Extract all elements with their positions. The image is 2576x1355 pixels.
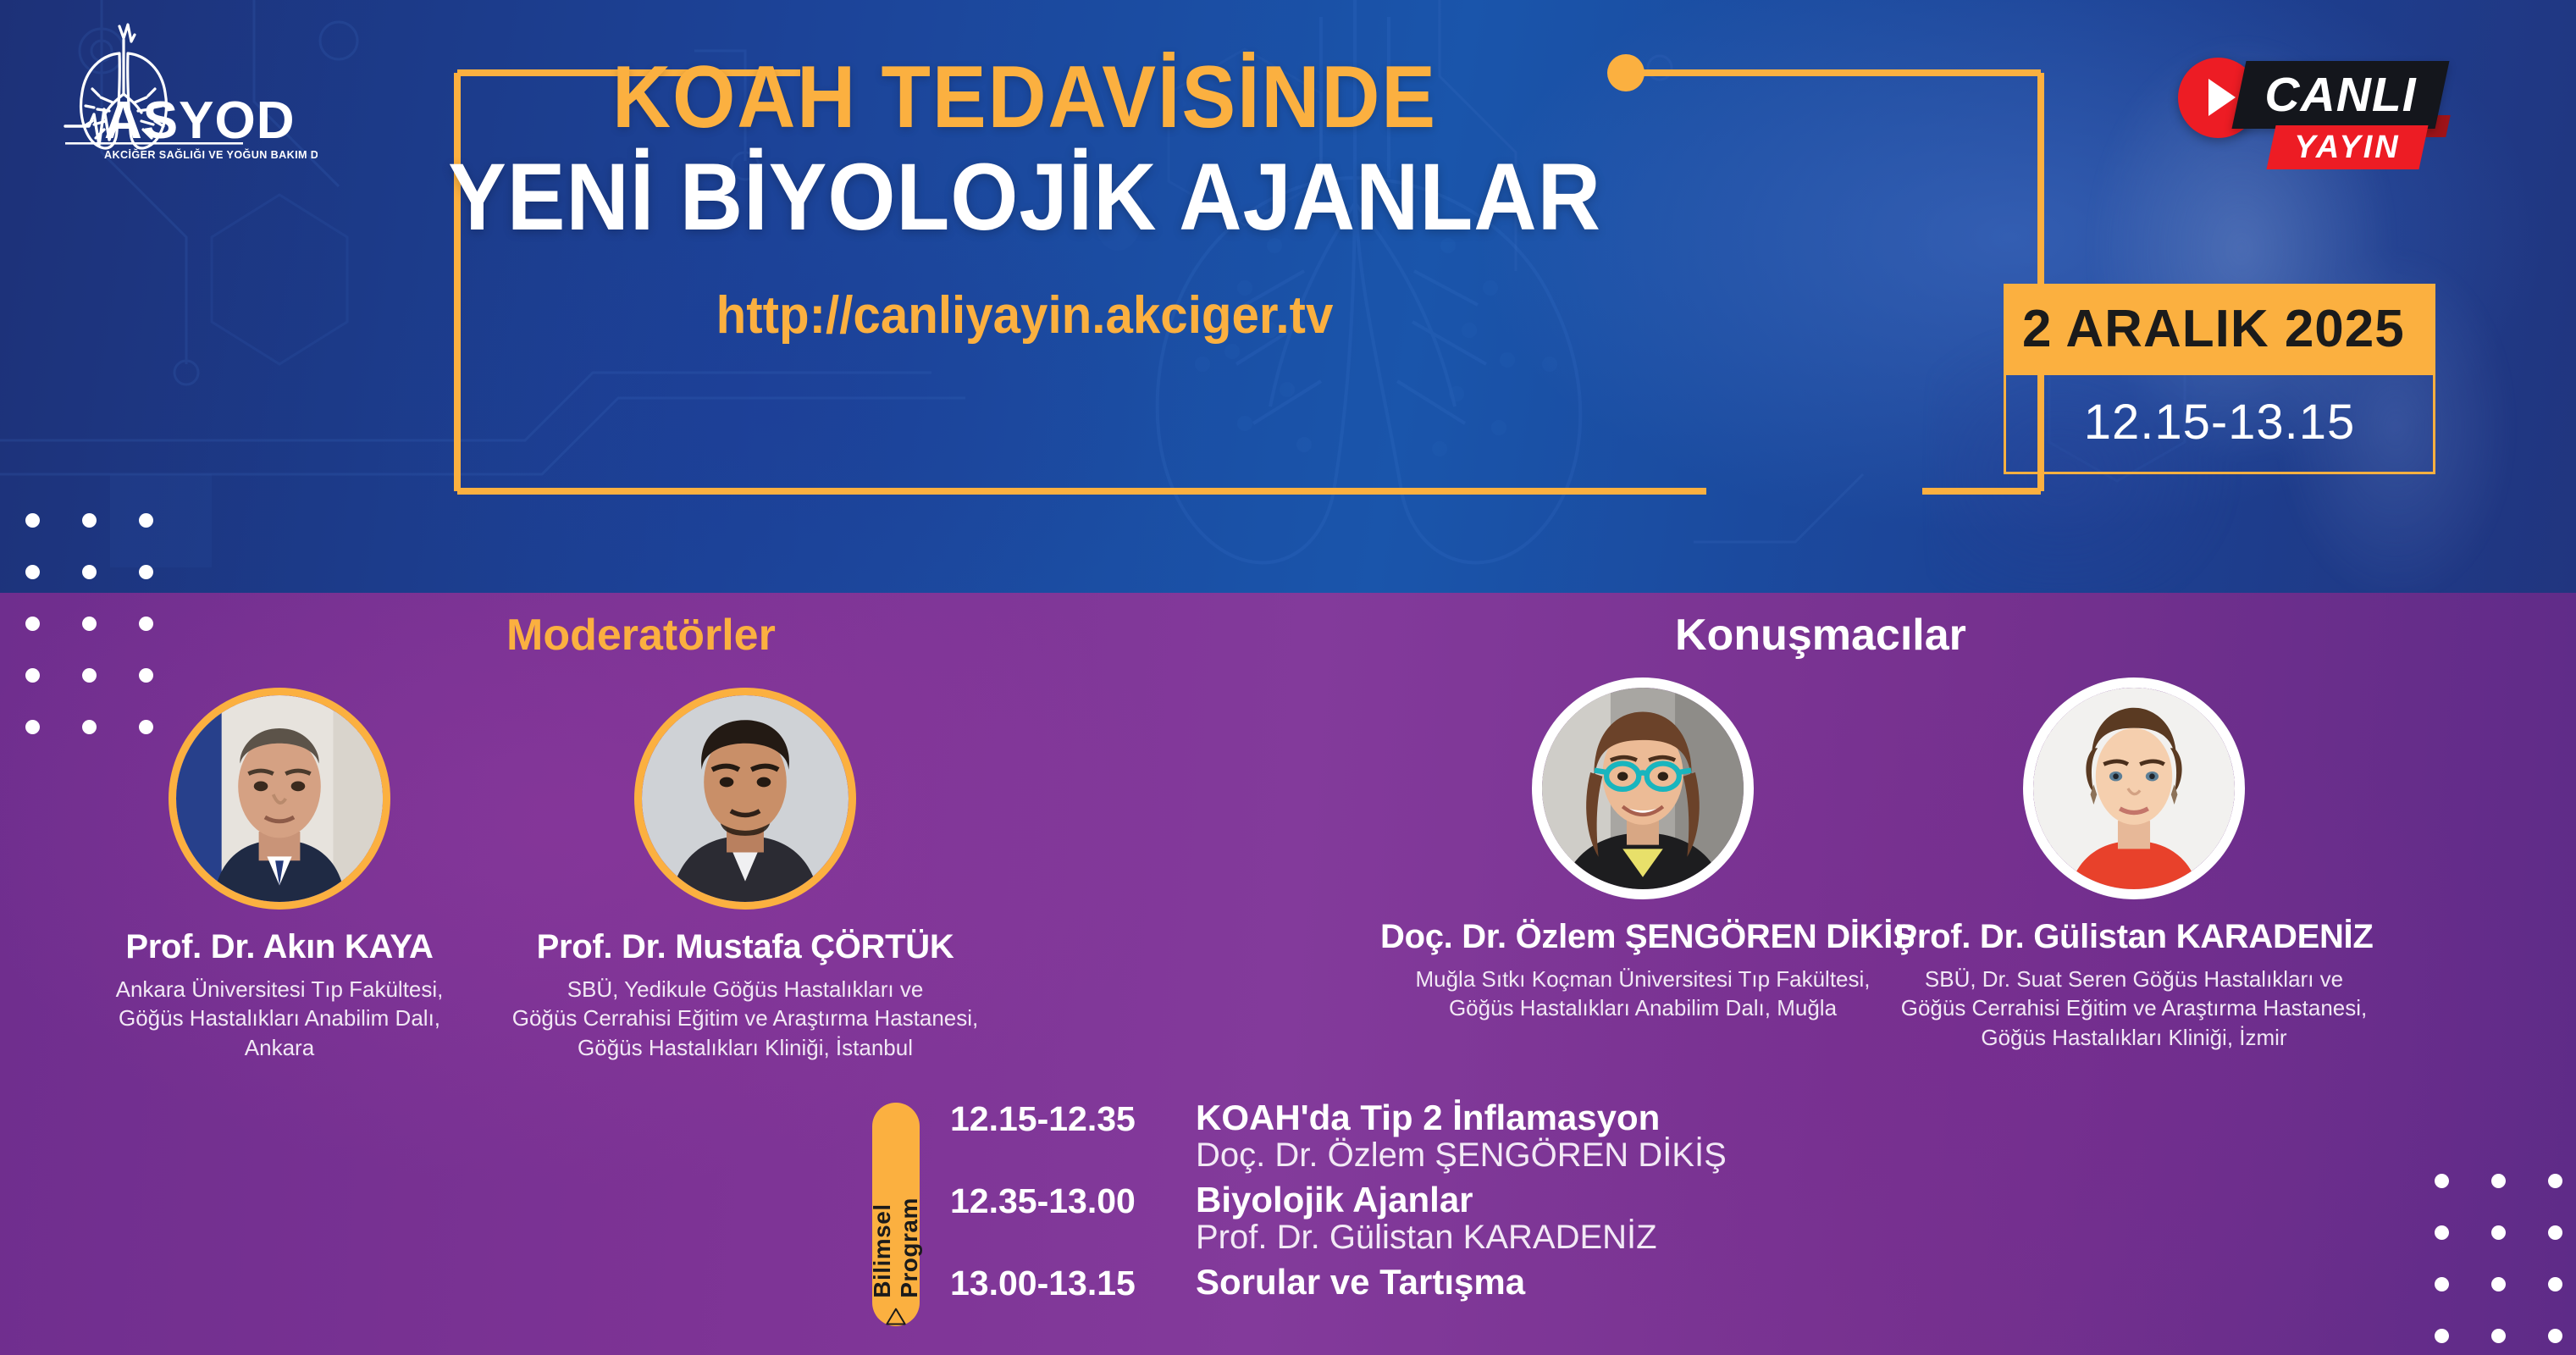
program-row: 13.00-13.15 Sorular ve Tartışma: [950, 1262, 1888, 1303]
avatar: [634, 688, 856, 910]
portrait-gulistan-karadeniz: [2033, 688, 2235, 889]
program-tab-badge: Bilimsel Program: [872, 1103, 920, 1326]
speakers-heading: Konuşmacılar: [1675, 610, 1966, 661]
moderator-card-2: Prof. Dr. Mustafa ÇÖRTÜK SBÜ, Yedikule G…: [483, 688, 1008, 1062]
triangle-icon: [883, 1307, 909, 1326]
live-label-plate: CANLI: [2231, 61, 2449, 129]
moderator-affiliation: SBÜ, Yedikule Göğüs Hastalıkları veGöğüs…: [483, 975, 1008, 1062]
avatar: [2023, 677, 2245, 899]
title-line-1: KOAH TEDAVİSİNDE: [82, 51, 1967, 144]
speaker-name: Prof. Dr. Gülistan KARADENİZ: [1871, 918, 2396, 956]
avatar: [169, 688, 390, 910]
program-time: 12.35-13.00: [950, 1180, 1196, 1221]
event-date: 2 ARALIK 2025: [2004, 284, 2435, 375]
program-speaker: Prof. Dr. Gülistan KARADENİZ: [1196, 1219, 1657, 1257]
hero-title-block: KOAH TEDAVİSİNDE YENİ BİYOLOJİK AJANLAR …: [0, 51, 2049, 346]
moderator-name: Prof. Dr. Mustafa ÇÖRTÜK: [483, 928, 1008, 966]
program-title: Biyolojik Ajanlar: [1196, 1180, 1657, 1220]
program-title: KOAH'da Tip 2 İnflamasyon: [1196, 1098, 1727, 1138]
speaker-affiliation: Muğla Sıtkı Koçman Üniversitesi Tıp Fakü…: [1380, 965, 1905, 1023]
scientific-program: Bilimsel Program 12.15-12.35 KOAH'da Tip…: [872, 1098, 1888, 1308]
speaker-card-2: Prof. Dr. Gülistan KARADENİZ SBÜ, Dr. Su…: [1871, 677, 2396, 1052]
date-time-box: 2 ARALIK 2025 12.15-13.15: [2004, 284, 2435, 474]
broadcast-label-text: YAYIN: [2271, 125, 2424, 169]
program-time: 12.15-12.35: [950, 1098, 1196, 1139]
avatar: [1532, 677, 1754, 899]
live-broadcast-badge[interactable]: CANLI YAYIN: [2178, 49, 2474, 185]
speaker-affiliation: SBÜ, Dr. Suat Seren Göğüs Hastalıkları v…: [1871, 965, 2396, 1052]
livestream-url[interactable]: http://canliyayin.akciger.tv: [62, 285, 1988, 346]
moderator-name: Prof. Dr. Akın KAYA: [17, 928, 542, 966]
moderators-heading: Moderatörler: [506, 610, 776, 661]
event-time: 12.15-13.15: [2004, 375, 2435, 474]
live-label-text: CANLI: [2239, 61, 2442, 129]
broadcast-label-plate: YAYIN: [2266, 125, 2428, 169]
program-row: 12.35-13.00 Biyolojik Ajanlar Prof. Dr. …: [950, 1180, 1888, 1257]
portrait-mustafa-cortuk: [642, 695, 849, 902]
speaker-name: Doç. Dr. Özlem ŞENGÖREN DİKİŞ: [1380, 918, 1905, 956]
program-title: Sorular ve Tartışma: [1196, 1262, 1525, 1302]
moderator-card-1: Prof. Dr. Akın KAYA Ankara Üniversitesi …: [17, 688, 542, 1062]
speaker-card-1: Doç. Dr. Özlem ŞENGÖREN DİKİŞ Muğla Sıtk…: [1380, 677, 1905, 1023]
conference-banner: ASYOD AKCİĞER SAĞLIĞI VE YOĞUN BAKIM DER…: [0, 0, 2576, 1355]
title-line-2: YENİ BİYOLOJİK AJANLAR: [82, 147, 1967, 248]
program-tab-label: Bilimsel Program: [869, 1118, 923, 1298]
program-rows: 12.15-12.35 KOAH'da Tip 2 İnflamasyon Do…: [950, 1098, 1888, 1303]
dot-grid-right: [2435, 1174, 2562, 1355]
moderator-affiliation: Ankara Üniversitesi Tıp Fakültesi,Göğüs …: [17, 975, 542, 1062]
portrait-ozlem-sengoren-dikis: [1542, 688, 1744, 889]
program-speaker: Doç. Dr. Özlem ŞENGÖREN DİKİŞ: [1196, 1137, 1727, 1175]
program-time: 13.00-13.15: [950, 1262, 1196, 1303]
program-row: 12.15-12.35 KOAH'da Tip 2 İnflamasyon Do…: [950, 1098, 1888, 1175]
portrait-akin-kaya: [176, 695, 383, 902]
